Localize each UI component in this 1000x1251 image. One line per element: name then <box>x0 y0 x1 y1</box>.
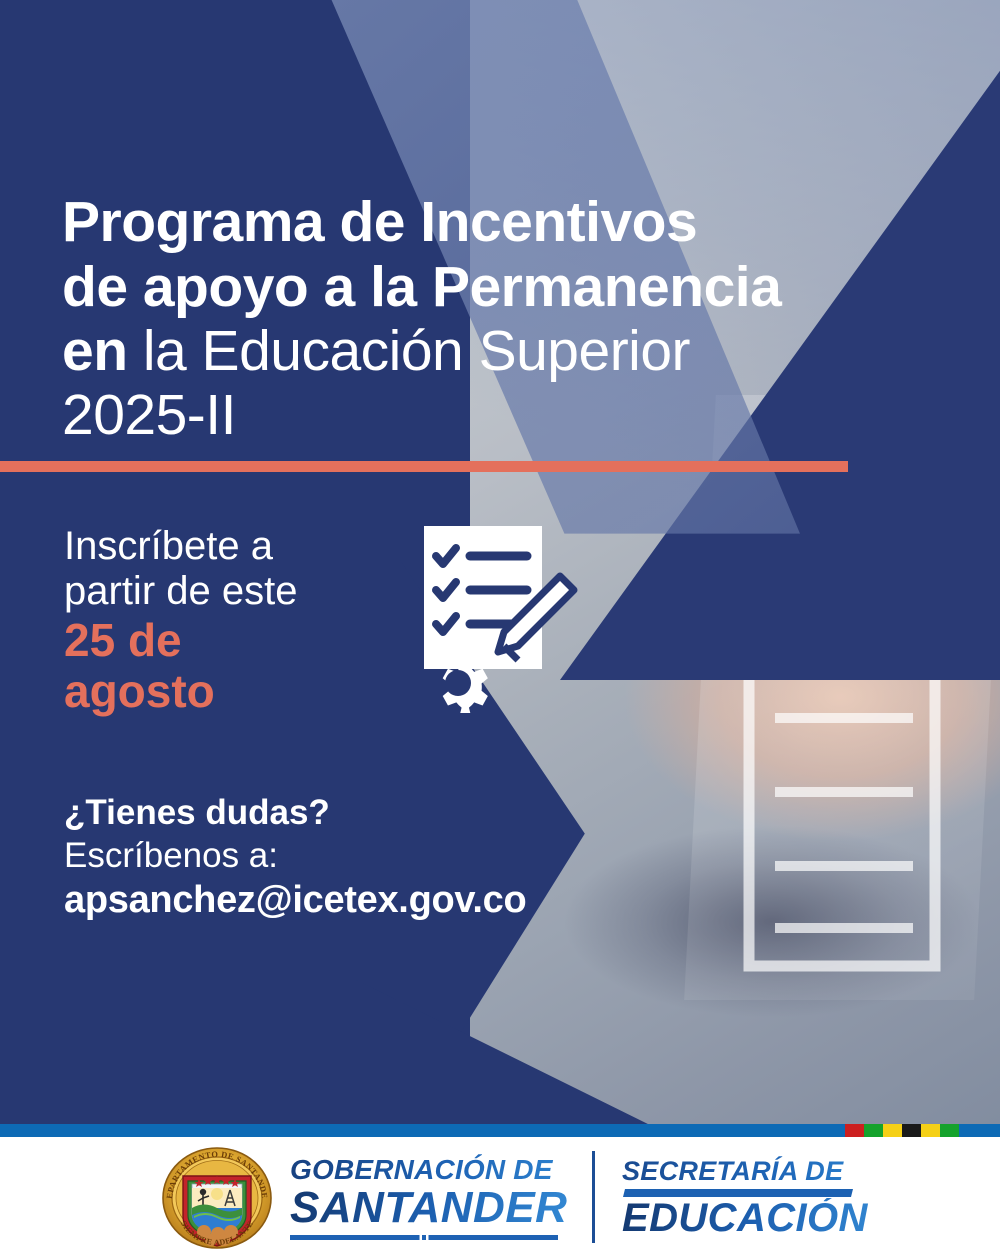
enrolment-line-2: partir de este <box>64 569 404 614</box>
secretaria-underline-bar <box>623 1189 853 1197</box>
secretaria-educacion-logo: SECRETARÍA DE EDUCACIÓN <box>622 1156 882 1238</box>
page-title: Programa de Incentivos de apoyo a la Per… <box>62 190 942 448</box>
footer-vertical-divider <box>592 1151 595 1243</box>
swatch-red <box>845 1124 864 1137</box>
poster-canvas: Programa de Incentivos de apoyo a la Per… <box>0 0 1000 1251</box>
gobernacion-santander-logo: GOBERNACIÓN DE SANTANDER <box>290 1154 570 1240</box>
enrolment-date-line-2: agosto <box>64 667 404 717</box>
footer: DEPARTAMENTO DE SANTANDER SIEMPRE ADELAN… <box>0 1124 1000 1251</box>
headline-line-3-bold: en <box>62 319 143 383</box>
swatch-green <box>864 1124 883 1137</box>
swatch-yellow-2 <box>921 1124 940 1137</box>
swatch-black <box>902 1124 921 1137</box>
secretaria-line-2: EDUCACIÓN <box>622 1198 882 1238</box>
footer-color-swatches <box>845 1124 959 1137</box>
santander-coat-of-arms-icon: DEPARTAMENTO DE SANTANDER SIEMPRE ADELAN… <box>158 1146 276 1250</box>
enrolment-line-1: Inscríbete a <box>64 524 404 569</box>
headline-line-3-light: la Educación Superior <box>143 319 690 383</box>
enrolment-date-line-1: 25 de <box>64 616 404 666</box>
secretaria-line-1: SECRETARÍA DE <box>622 1156 882 1187</box>
enrolment-callout: Inscríbete a partir de este 25 de agosto <box>64 524 404 717</box>
divider-orange-rule <box>0 461 848 472</box>
swatch-yellow <box>883 1124 902 1137</box>
headline-line-1: Programa de Incentivos <box>62 190 942 254</box>
contact-write-label: Escríbenos a: <box>64 835 526 878</box>
contact-question: ¿Tienes dudas? <box>64 792 526 835</box>
gobernacion-underline <box>290 1235 558 1240</box>
gobernacion-line-1: GOBERNACIÓN DE <box>290 1154 570 1186</box>
contact-email[interactable]: apsanchez@icetex.gov.co <box>64 877 526 925</box>
headline-line-2: de apoyo a la Permanencia <box>62 255 942 319</box>
headline-line-4: 2025-II <box>62 383 942 447</box>
checklist-document-pencil-gear-icon <box>412 518 592 713</box>
swatch-green-2 <box>940 1124 959 1137</box>
headline-line-3: en la Educación Superior <box>62 319 942 383</box>
gobernacion-line-2: SANTANDER <box>290 1186 570 1230</box>
contact-block: ¿Tienes dudas? Escríbenos a: apsanchez@i… <box>64 792 526 925</box>
